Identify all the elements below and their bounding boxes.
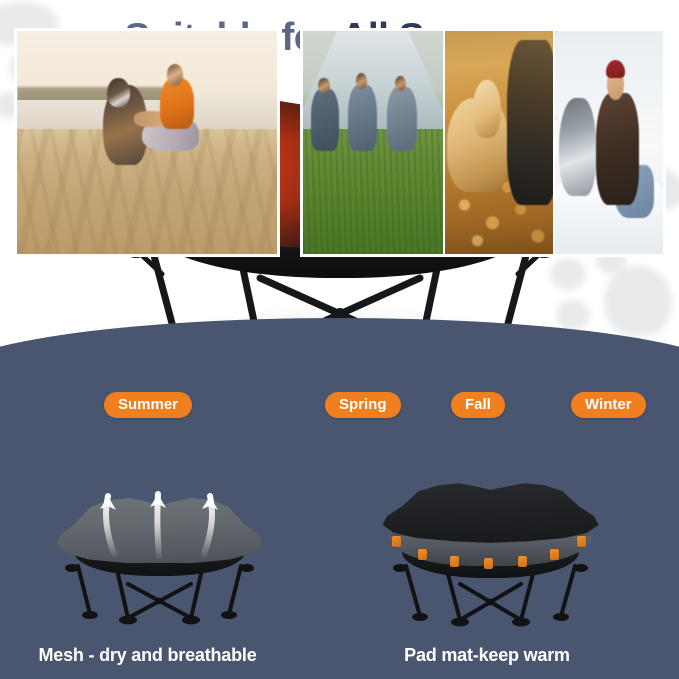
buckle-icon — [392, 536, 401, 547]
photo-row-summer — [17, 31, 277, 254]
husky-head — [107, 78, 130, 107]
photo-fall — [443, 31, 553, 254]
red-beanie-hat — [606, 60, 625, 78]
buckle-icon — [518, 556, 527, 567]
photo-beach-summer — [17, 31, 277, 254]
buckle-icon — [484, 558, 493, 569]
pad-mat-surface — [378, 478, 603, 544]
caption-summer: Mesh - dry and breathable — [0, 645, 295, 666]
retriever-head — [473, 80, 501, 138]
photo-spring — [303, 31, 443, 254]
small-bed-pad-mat — [378, 478, 603, 630]
paw-print-icon — [600, 244, 674, 336]
badge-winter: Winter — [571, 392, 646, 418]
seasons-infographic: Suitable for All Seasons — [0, 0, 679, 679]
badge-summer: Summer — [104, 392, 192, 418]
caption-pad-mat: Pad mat-keep warm — [295, 645, 679, 666]
buckle-icon — [418, 549, 427, 560]
buckle-icon — [450, 556, 459, 567]
small-bed-mesh-surface — [52, 492, 267, 566]
panel-summer — [14, 28, 280, 257]
badge-spring: Spring — [325, 392, 401, 418]
badge-fall: Fall — [451, 392, 505, 418]
owner-silhouette — [507, 40, 552, 205]
buckle-icon — [577, 536, 586, 547]
woman-coat — [596, 93, 639, 205]
photo-winter — [553, 31, 663, 254]
buckle-icon — [550, 549, 559, 560]
small-bed-mesh — [52, 492, 267, 627]
panel-three-seasons — [300, 28, 666, 257]
person-head — [167, 64, 184, 85]
photo-row-three-seasons — [303, 31, 663, 254]
winter-husky — [559, 98, 596, 196]
